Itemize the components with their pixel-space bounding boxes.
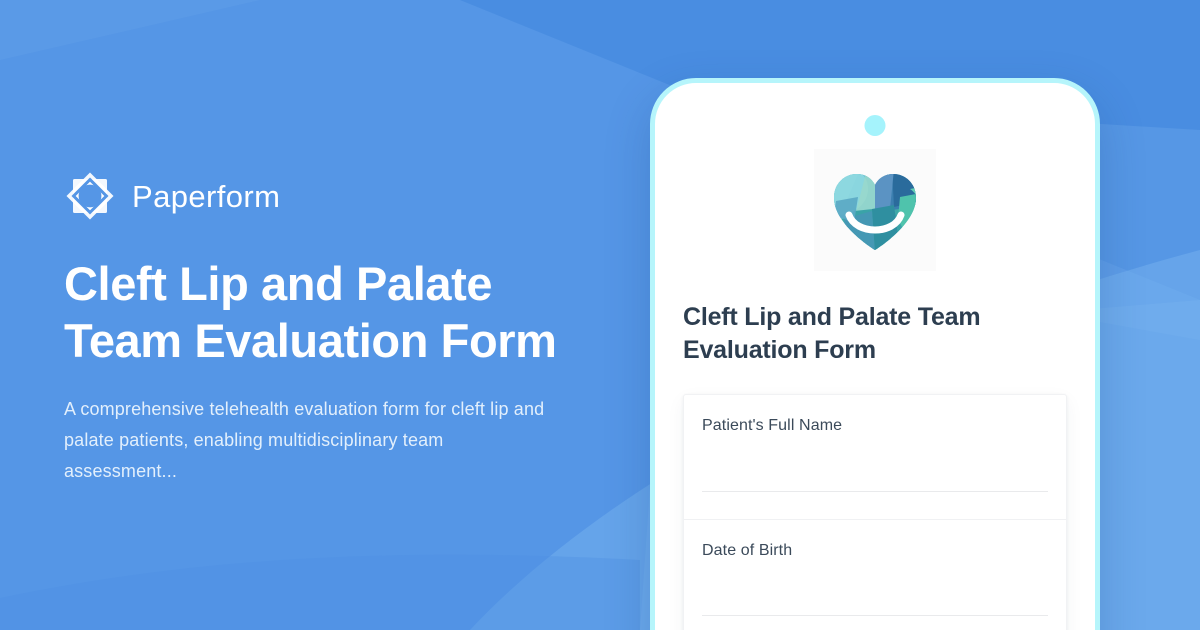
hero-content: Paperform Cleft Lip and Palate Team Eval… bbox=[64, 170, 624, 487]
form-field-patient-name[interactable]: Patient's Full Name bbox=[684, 395, 1066, 519]
heart-smile-logo-icon bbox=[814, 149, 936, 271]
brand-name: Paperform bbox=[132, 181, 280, 212]
phone-mockup: Cleft Lip and Palate Team Evaluation For… bbox=[650, 78, 1100, 630]
form-field-date-of-birth[interactable]: Date of Birth bbox=[684, 519, 1066, 630]
form-card: Patient's Full Name Date of Birth bbox=[683, 394, 1067, 630]
form-logo-container bbox=[683, 149, 1067, 271]
paperform-rosette-logo-icon bbox=[64, 170, 116, 222]
field-label: Patient's Full Name bbox=[702, 417, 1048, 435]
field-label: Date of Birth bbox=[702, 542, 1048, 560]
form-title: Cleft Lip and Palate Team Evaluation For… bbox=[683, 301, 1067, 368]
page-description: A comprehensive telehealth evaluation fo… bbox=[64, 394, 554, 487]
phone-screen: Cleft Lip and Palate Team Evaluation For… bbox=[655, 83, 1095, 630]
field-underline bbox=[702, 491, 1048, 492]
field-underline bbox=[702, 615, 1048, 616]
page-title: Cleft Lip and Palate Team Evaluation For… bbox=[64, 256, 604, 370]
brand-lockup: Paperform bbox=[64, 170, 624, 222]
